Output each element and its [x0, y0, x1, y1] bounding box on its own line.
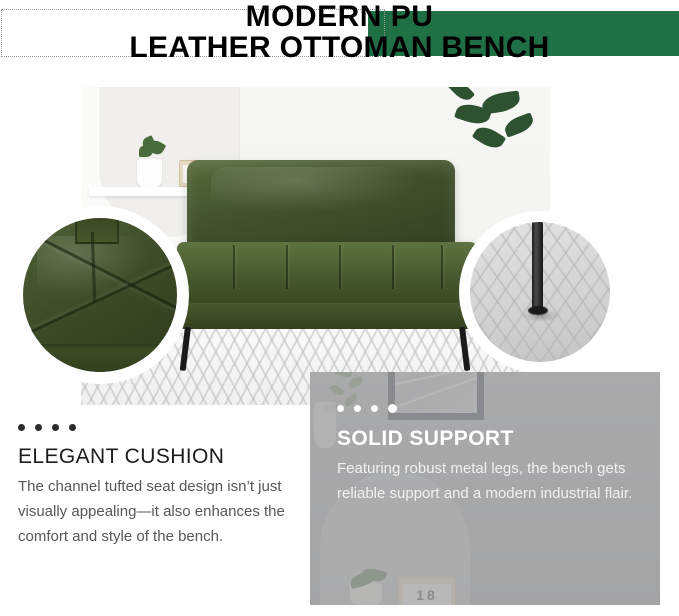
feature-left-heading: ELEGANT CUSHION: [18, 445, 308, 469]
metal-leg-foot: [528, 306, 548, 315]
bullet-dot-icon: [52, 424, 59, 431]
bullet-dot-icon: [35, 424, 42, 431]
bench-tuft-seam: [392, 245, 394, 289]
bullet-dot-icon: [388, 404, 397, 413]
leather-lower-panel: [23, 344, 177, 372]
bullet-dot-icon: [18, 424, 25, 431]
product-infographic: MODERN PU LEATHER OTTOMAN BENCH 18: [0, 0, 679, 616]
bench-tuft-seam: [339, 245, 341, 289]
bench-seat: [177, 242, 477, 308]
bench-tuft-seam: [233, 245, 235, 289]
bench-backrest-highlight: [211, 167, 421, 213]
bench-tuft-seam: [441, 245, 443, 289]
bullet-dot-icon: [69, 424, 76, 431]
header-banner: MODERN PU LEATHER OTTOMAN BENCH: [0, 0, 679, 70]
feature-right-heading: SOLID SUPPORT: [337, 427, 637, 451]
bullet-dot-icon: [354, 405, 361, 412]
leg-closeup-image: [470, 222, 610, 362]
bullet-dot-icon: [371, 405, 378, 412]
title-line-2: LEATHER OTTOMAN BENCH: [129, 32, 549, 63]
feature-solid-support: SOLID SUPPORT Featuring robust metal leg…: [337, 404, 637, 506]
title-line-1: MODERN PU: [246, 1, 434, 32]
metal-leg: [532, 222, 543, 310]
feature-solid-support-panel: 18 SOLID SUPPORT Featuring robust metal …: [310, 372, 660, 605]
feature-left-body: The channel tufted seat design isn’t jus…: [18, 474, 308, 549]
feature-right-dots: [337, 404, 637, 413]
shelf-plant-pot: [137, 159, 162, 187]
feature-right-body: Featuring robust metal legs, the bench g…: [337, 456, 637, 506]
feature-elegant-cushion: ELEGANT CUSHION The channel tufted seat …: [18, 424, 308, 549]
bench-tuft-seam: [286, 245, 288, 289]
leather-top-pleat: [75, 218, 119, 244]
leather-closeup-image: [23, 218, 177, 372]
page-title: MODERN PU LEATHER OTTOMAN BENCH: [0, 0, 679, 70]
inset-leg-closeup: [464, 216, 616, 368]
feature-left-dots: [18, 424, 308, 431]
inset-leather-closeup: [17, 212, 183, 378]
bench-base-skirt: [179, 303, 475, 329]
bullet-dot-icon: [337, 405, 344, 412]
